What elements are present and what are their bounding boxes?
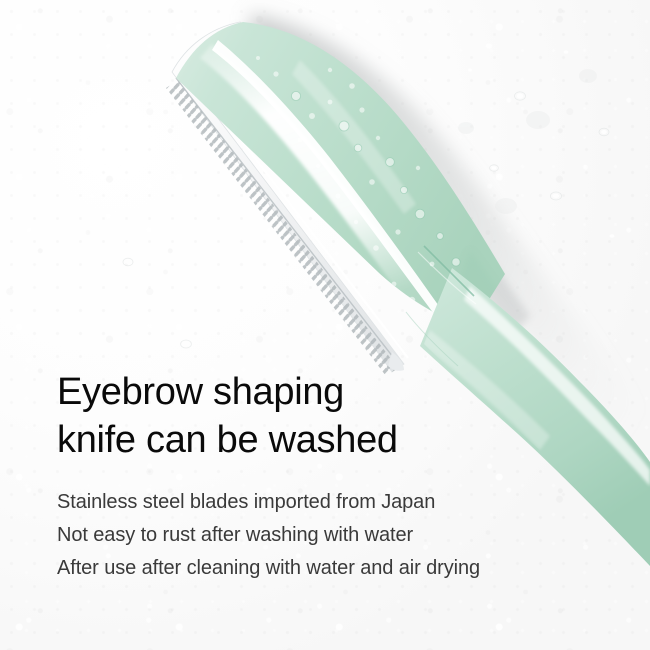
water-droplets-on-head xyxy=(256,56,460,303)
feature-item: After use after cleaning with water and … xyxy=(57,552,617,585)
feature-list: Stainless steel blades imported from Jap… xyxy=(57,486,617,585)
water-droplet-rings xyxy=(291,91,460,266)
product-marketing-image: Eyebrow shaping knife can be washed Stai… xyxy=(0,0,650,650)
handle-seam-line xyxy=(424,246,474,296)
marketing-copy: Eyebrow shaping knife can be washed Stai… xyxy=(57,368,617,585)
feature-item: Not easy to rust after washing with wate… xyxy=(57,519,617,552)
blade-comb-guard xyxy=(166,22,408,376)
headline: Eyebrow shaping knife can be washed xyxy=(57,368,617,464)
razor-head-body xyxy=(176,0,560,340)
water-droplets-on-surface xyxy=(74,50,615,406)
feature-item: Stainless steel blades imported from Jap… xyxy=(57,486,617,519)
